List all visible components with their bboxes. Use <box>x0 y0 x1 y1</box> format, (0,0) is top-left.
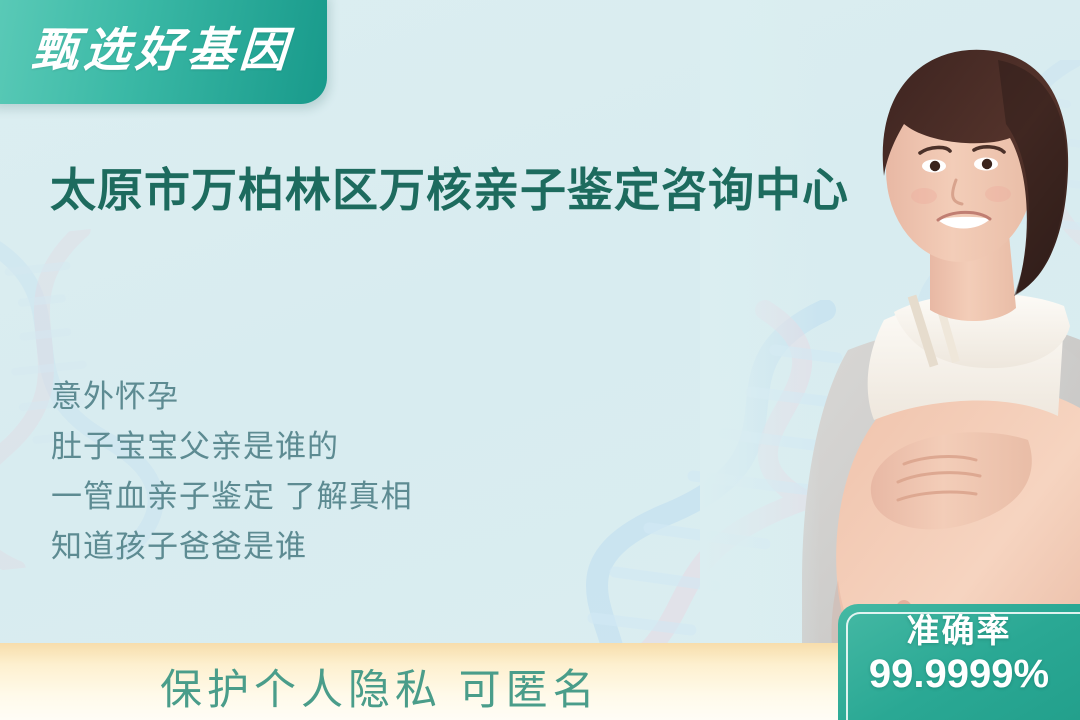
copy-line: 意外怀孕 <box>51 372 413 422</box>
accuracy-badge: 准确率 99.9999% <box>838 604 1080 720</box>
marketing-copy-list: 意外怀孕 肚子宝宝父亲是谁的 一管血亲子鉴定 了解真相 知道孩子爸爸是谁 <box>51 372 413 572</box>
badge-content: 准确率 99.9999% <box>838 604 1080 697</box>
brand-logo-text: 甄选好基因 <box>29 11 294 80</box>
privacy-strip-text: 保护个人隐私 可匿名 <box>160 656 600 717</box>
promo-poster: 甄选好基因 太原市万柏林区万核亲子鉴定咨询中心 意外怀孕 肚子宝宝父亲是谁的 一… <box>0 0 1080 720</box>
copy-line: 肚子宝宝父亲是谁的 <box>51 422 413 472</box>
badge-label: 准确率 <box>838 613 1080 650</box>
badge-value: 99.9999% <box>838 652 1080 697</box>
brand-logo-banner: 甄选好基因 <box>0 0 327 104</box>
page-title: 太原市万柏林区万核亲子鉴定咨询中心 <box>50 160 850 221</box>
photo-edge-fade <box>700 0 820 720</box>
copy-line: 一管血亲子鉴定 了解真相 <box>51 472 413 522</box>
copy-line: 知道孩子爸爸是谁 <box>51 522 413 572</box>
